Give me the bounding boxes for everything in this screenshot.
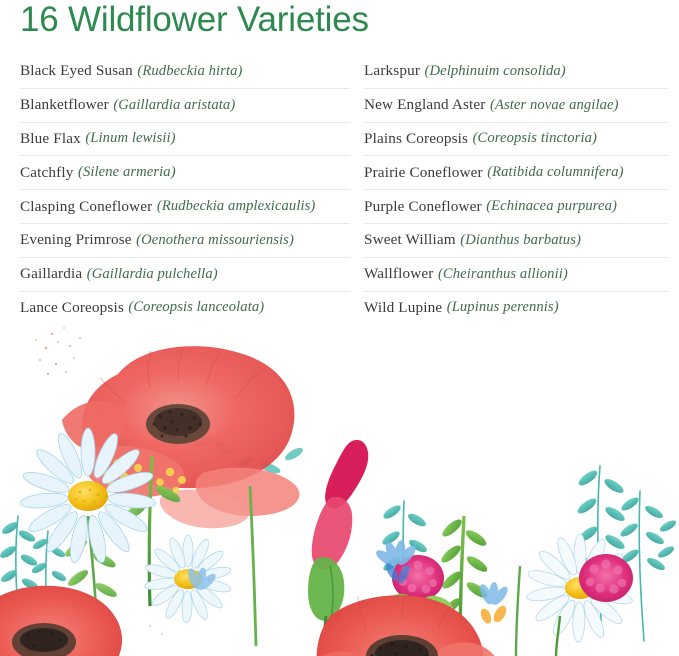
variety-common-name: Blue Flax (20, 130, 81, 148)
variety-row: Sweet William (Dianthus barbatus) (364, 224, 668, 258)
variety-common-name: Purple Coneflower (364, 198, 482, 216)
variety-latin-name: (Silene armeria) (78, 164, 176, 181)
pink-clover-right-far (579, 554, 633, 602)
variety-latin-name: (Linum lewisii) (85, 130, 175, 147)
wildflower-illustration-svg (0, 316, 679, 656)
variety-common-name: Evening Primrose (20, 231, 132, 249)
variety-latin-name: (Oenothera missouriensis) (136, 232, 294, 249)
variety-latin-name: (Rudbeckia amplexicaulis) (157, 198, 316, 215)
varieties-right-column: Larkspur (Delphinuim consolida) New Engl… (352, 55, 679, 317)
variety-row: Wallflower (Cheiranthus allionii) (364, 258, 668, 292)
red-poppy-bottom-left (0, 586, 122, 656)
variety-common-name: Wild Lupine (364, 299, 442, 317)
variety-latin-name: (Rudbeckia hirta) (137, 63, 242, 80)
page-title: 16 Wildflower Varieties (20, 0, 369, 42)
variety-row: New England Aster (Aster novae angilae) (364, 89, 668, 123)
variety-latin-name: (Gaillardia aristata) (113, 97, 235, 114)
variety-latin-name: (Gaillardia pulchella) (87, 266, 218, 283)
variety-latin-name: (Cheiranthus allionii) (438, 266, 568, 283)
variety-common-name: New England Aster (364, 96, 486, 114)
variety-common-name: Prairie Coneflower (364, 164, 483, 182)
variety-row: Blanketflower (Gaillardia aristata) (20, 89, 350, 123)
variety-latin-name: (Coreopsis tinctoria) (473, 130, 597, 147)
variety-row: Plains Coreopsis (Coreopsis tinctoria) (364, 123, 668, 157)
variety-row: Larkspur (Delphinuim consolida) (364, 55, 668, 89)
varieties-left-column: Black Eyed Susan (Rudbeckia hirta) Blank… (0, 55, 352, 317)
variety-common-name: Wallflower (364, 265, 433, 283)
variety-common-name: Clasping Coneflower (20, 198, 152, 216)
wildflower-seed-packet-page: 16 Wildflower Varieties Black Eyed Susan… (0, 0, 679, 656)
variety-latin-name: (Lupinus perennis) (447, 299, 559, 316)
white-blue-daisy-left-small (144, 535, 232, 623)
variety-latin-name: (Coreopsis lanceolata) (128, 299, 264, 316)
variety-latin-name: (Delphinuim consolida) (425, 63, 566, 80)
variety-row: Purple Coneflower (Echinacea purpurea) (364, 190, 668, 224)
varieties-list: Black Eyed Susan (Rudbeckia hirta) Blank… (0, 55, 679, 317)
variety-common-name: Plains Coreopsis (364, 130, 468, 148)
variety-latin-name: (Echinacea purpurea) (486, 198, 617, 215)
variety-common-name: Lance Coreopsis (20, 299, 124, 317)
variety-row: Blue Flax (Linum lewisii) (20, 123, 350, 157)
wildflower-illustration (0, 316, 679, 656)
variety-row: Black Eyed Susan (Rudbeckia hirta) (20, 55, 350, 89)
variety-latin-name: (Aster novae angilae) (490, 97, 619, 114)
variety-common-name: Larkspur (364, 62, 420, 80)
variety-common-name: Blanketflower (20, 96, 109, 114)
variety-latin-name: (Ratibida columnifera) (487, 164, 623, 181)
variety-common-name: Sweet William (364, 231, 456, 249)
variety-common-name: Black Eyed Susan (20, 62, 133, 80)
variety-row: Catchfly (Silene armeria) (20, 156, 350, 190)
variety-row: Clasping Coneflower (Rudbeckia amplexica… (20, 190, 350, 224)
variety-row: Prairie Coneflower (Ratibida columnifera… (364, 156, 668, 190)
variety-row: Gaillardia (Gaillardia pulchella) (20, 258, 350, 292)
variety-common-name: Catchfly (20, 164, 74, 182)
variety-row: Evening Primrose (Oenothera missouriensi… (20, 224, 350, 258)
variety-common-name: Gaillardia (20, 265, 82, 283)
variety-latin-name: (Dianthus barbatus) (460, 232, 581, 249)
